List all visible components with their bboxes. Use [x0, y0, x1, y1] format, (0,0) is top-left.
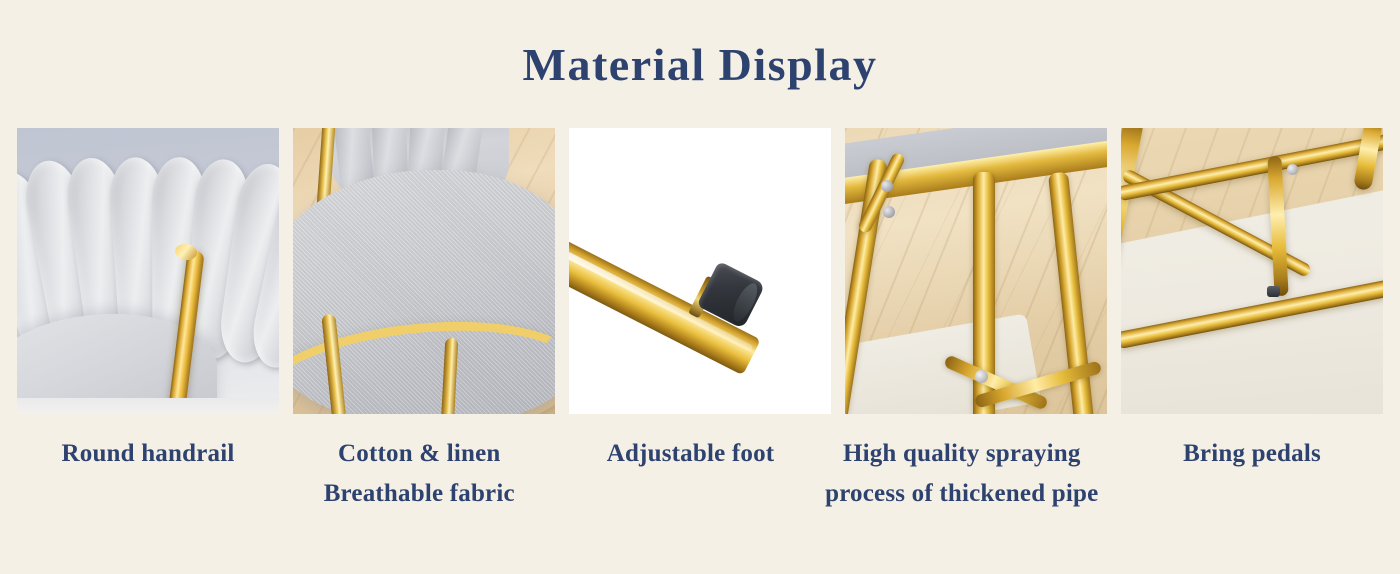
- feature-image-high-quality-spraying: [845, 128, 1107, 414]
- caption-line-1: Adjustable foot: [607, 440, 775, 467]
- caption-line-1: Cotton & linen: [338, 440, 501, 467]
- caption-line-2: Breathable fabric: [288, 474, 550, 514]
- bolt-lower-icon: [883, 206, 895, 218]
- caption-line-1: High quality spraying: [843, 440, 1081, 467]
- screw-joint-icon: [1287, 164, 1298, 175]
- feature-image-bring-pedals: [1121, 128, 1383, 414]
- caption-bring-pedals: Bring pedals: [1121, 434, 1383, 514]
- caption-high-quality-spraying: High quality spraying process of thicken…: [812, 434, 1112, 514]
- caption-adjustable-foot: Adjustable foot: [560, 434, 822, 514]
- feature-image-adjustable-foot: [569, 128, 831, 414]
- caption-cotton-linen: Cotton & linen Breathable fabric: [288, 434, 550, 514]
- page-title: Material Display: [0, 38, 1400, 91]
- feature-caption-row: Round handrail Cotton & linen Breathable…: [17, 434, 1383, 514]
- screw-joint-icon: [975, 370, 988, 383]
- caption-line-1: Round handrail: [61, 440, 234, 467]
- feature-image-cotton-linen: [293, 128, 555, 414]
- caption-line-1: Bring pedals: [1183, 440, 1321, 467]
- feature-image-round-handrail: [17, 128, 279, 414]
- caption-line-2: process of thickened pipe: [812, 474, 1112, 514]
- material-display-banner: Material Display: [0, 0, 1400, 574]
- bolt-upper-icon: [881, 180, 893, 192]
- feature-image-row: [17, 128, 1383, 414]
- floor-strip: [17, 398, 279, 414]
- black-foot-tip: [1267, 286, 1280, 297]
- caption-round-handrail: Round handrail: [17, 434, 279, 514]
